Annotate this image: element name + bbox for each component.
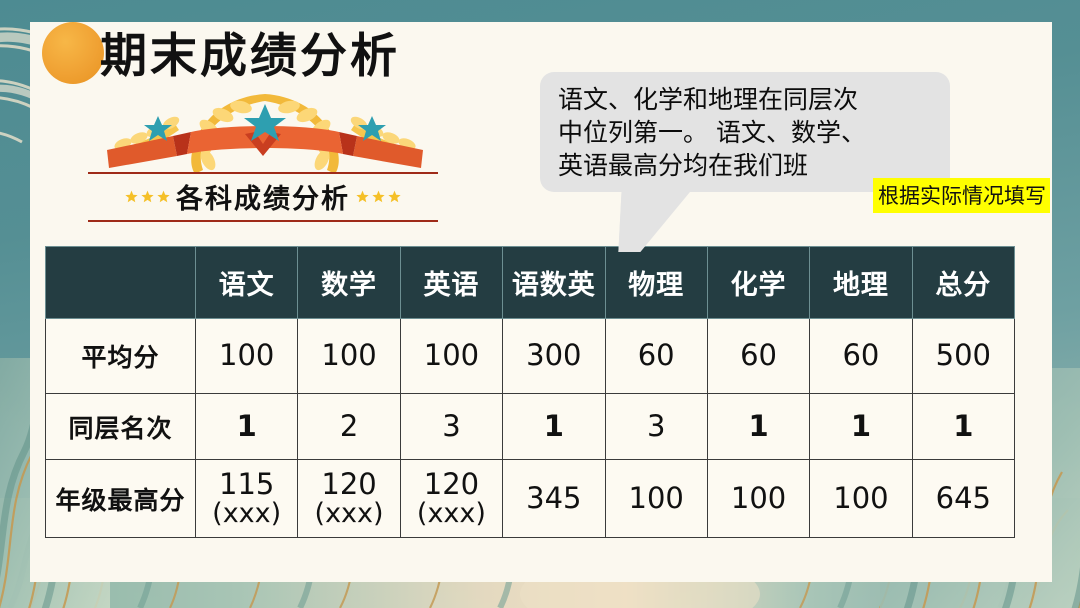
star-icon xyxy=(372,190,385,203)
table-cell: 2 xyxy=(298,394,400,460)
table-cell: 645 xyxy=(912,460,1014,538)
laurel-wreath-emblem-icon xyxy=(95,88,435,176)
section-subheading-block: 各科成绩分析 xyxy=(88,172,438,222)
table-cell: 1 xyxy=(196,394,298,460)
callout-text: 语文、化学和地理在同层次 中位列第一。 语文、数学、 英语最高分均在我们班 xyxy=(558,83,938,182)
table-cell: 100 xyxy=(196,319,298,394)
table-header-row: 语文 数学 英语 语数英 物理 化学 地理 总分 xyxy=(46,247,1015,319)
table-cell: 115(xxx) xyxy=(196,460,298,538)
instruction-note-text: 根据实际情况填写 xyxy=(878,184,1046,208)
table-cell: 120(xxx) xyxy=(400,460,502,538)
callout-tail xyxy=(618,190,691,252)
star-icon xyxy=(356,190,369,203)
column-header-total: 总分 xyxy=(912,247,1014,319)
slide-canvas: 期末成绩分析 xyxy=(0,0,1080,608)
callout-bubble[interactable]: 语文、化学和地理在同层次 中位列第一。 语文、数学、 英语最高分均在我们班 xyxy=(540,72,950,192)
row-label-average: 平均分 xyxy=(46,319,196,394)
table-cell: 1 xyxy=(912,394,1014,460)
table-cell: 100 xyxy=(707,460,809,538)
row-label-grade-top-score: 年级最高分 xyxy=(46,460,196,538)
table-cell: 1 xyxy=(810,394,912,460)
column-header-chemistry: 化学 xyxy=(707,247,809,319)
table-cell: 60 xyxy=(605,319,707,394)
table-body: 平均分 100 100 100 300 60 60 60 500 同层名次 1 … xyxy=(46,319,1015,538)
table-cell: 60 xyxy=(810,319,912,394)
column-header-chinese: 语文 xyxy=(196,247,298,319)
table-row: 年级最高分 115(xxx) 120(xxx) 120(xxx) 345 100… xyxy=(46,460,1015,538)
table-cell: 100 xyxy=(298,319,400,394)
table-cell: 3 xyxy=(605,394,707,460)
grades-table: 语文 数学 英语 语数英 物理 化学 地理 总分 平均分 100 100 100… xyxy=(45,246,1015,538)
table-cell: 1 xyxy=(707,394,809,460)
table-cell: 120(xxx) xyxy=(298,460,400,538)
star-icon xyxy=(125,190,138,203)
column-header-physics: 物理 xyxy=(605,247,707,319)
table-cell: 500 xyxy=(912,319,1014,394)
star-icon xyxy=(157,190,170,203)
section-subheading: 各科成绩分析 xyxy=(176,177,350,216)
star-icon xyxy=(141,190,154,203)
star-icon xyxy=(388,190,401,203)
table-cell: 300 xyxy=(503,319,605,394)
grades-table-container: 语文 数学 英语 语数英 物理 化学 地理 总分 平均分 100 100 100… xyxy=(45,246,1015,538)
sun-circle-icon xyxy=(42,22,104,84)
column-header-combined: 语数英 xyxy=(503,247,605,319)
table-corner-cell xyxy=(46,247,196,319)
instruction-note[interactable]: 根据实际情况填写 xyxy=(873,178,1050,213)
stars-left-group xyxy=(125,190,170,203)
column-header-english: 英语 xyxy=(400,247,502,319)
table-header: 语文 数学 英语 语数英 物理 化学 地理 总分 xyxy=(46,247,1015,319)
column-header-geography: 地理 xyxy=(810,247,912,319)
stars-right-group xyxy=(356,190,401,203)
table-cell: 1 xyxy=(503,394,605,460)
column-header-math: 数学 xyxy=(298,247,400,319)
table-row: 同层名次 1 2 3 1 3 1 1 1 xyxy=(46,394,1015,460)
table-cell: 100 xyxy=(810,460,912,538)
table-cell: 345 xyxy=(503,460,605,538)
table-row: 平均分 100 100 100 300 60 60 60 500 xyxy=(46,319,1015,394)
divider-bottom xyxy=(88,220,438,222)
table-cell: 60 xyxy=(707,319,809,394)
table-cell: 3 xyxy=(400,394,502,460)
table-cell: 100 xyxy=(400,319,502,394)
row-label-rank: 同层名次 xyxy=(46,394,196,460)
page-title: 期末成绩分析 xyxy=(100,17,400,86)
table-cell: 100 xyxy=(605,460,707,538)
